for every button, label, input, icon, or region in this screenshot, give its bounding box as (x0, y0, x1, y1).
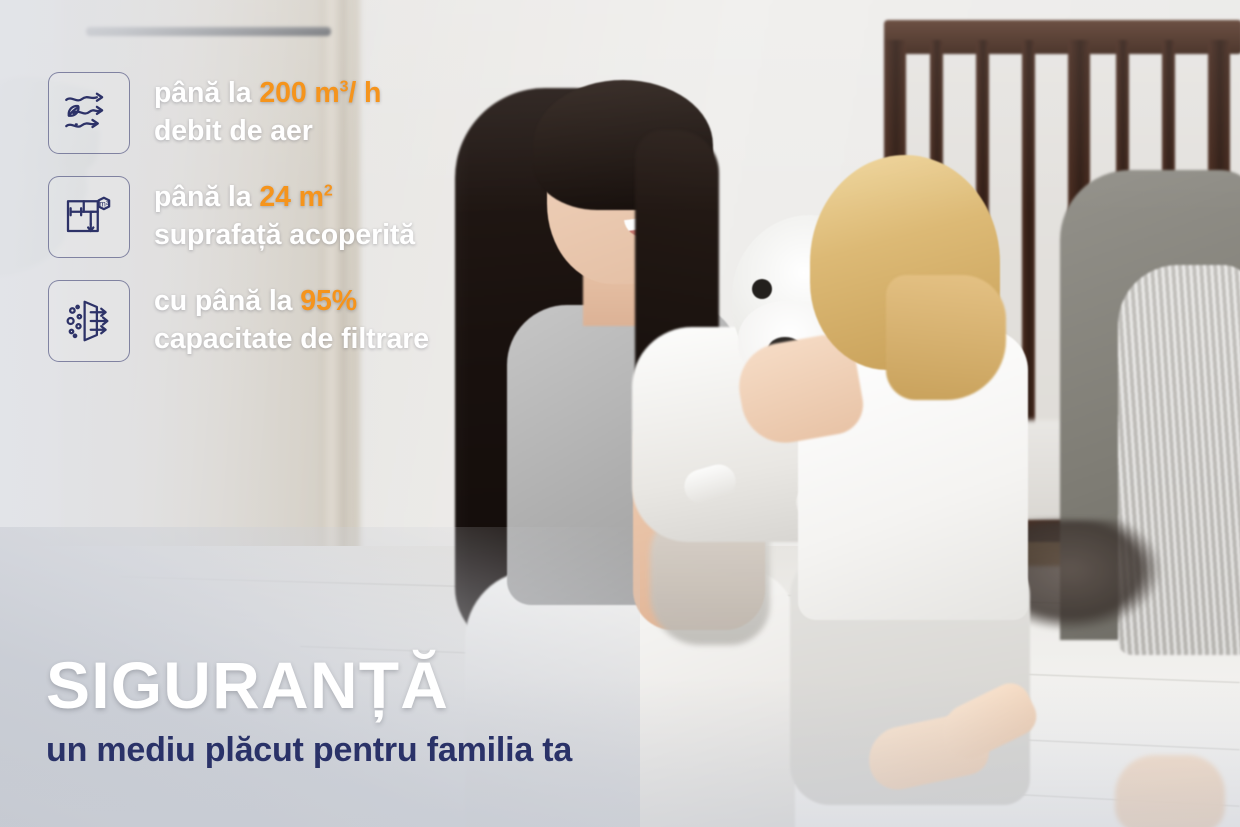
headline-subtitle: un mediu plăcut pentru familia ta (46, 732, 806, 769)
feature-unit-suffix: / h (348, 77, 381, 109)
headline-block: SIGURANȚĂ un mediu plăcut pentru familia… (46, 652, 806, 769)
feature-icon-box (48, 72, 130, 154)
feature-caption: suprafață acoperită (154, 217, 415, 255)
child-hand (1115, 755, 1225, 827)
feature-value: 24 m (259, 181, 324, 213)
filter-particles-icon (61, 293, 117, 349)
feature-caption: debit de aer (154, 113, 381, 151)
promo-banner: până la 200 m3/ h debit de aer m² (0, 0, 1240, 827)
door-handle (86, 27, 331, 36)
feature-item-filtration: cu până la 95% capacitate de filtrare (48, 280, 568, 362)
feature-text: până la 24 m2 suprafață acoperită (154, 176, 415, 254)
feature-prefix: cu până la (154, 285, 300, 317)
feature-item-area: m² până la 24 m2 suprafață acoperită (48, 176, 568, 258)
feature-caption: capacitate de filtrare (154, 321, 429, 359)
svg-text:m²: m² (99, 200, 109, 209)
feature-icon-box: m² (48, 176, 130, 258)
feature-prefix: până la (154, 181, 259, 213)
airflow-leaf-icon (61, 85, 117, 141)
floor-plan-area-icon: m² (61, 189, 117, 245)
feature-icon-box (48, 280, 130, 362)
feature-prefix: până la (154, 77, 259, 109)
feature-exponent: 2 (324, 183, 333, 200)
feature-text: până la 200 m3/ h debit de aer (154, 72, 381, 150)
feature-value: 200 m (259, 77, 339, 109)
feature-list: până la 200 m3/ h debit de aer m² (48, 72, 568, 362)
child-figure (790, 155, 1080, 827)
feature-text: cu până la 95% capacitate de filtrare (154, 280, 429, 358)
feature-value: 95% (300, 285, 357, 317)
headline-title: SIGURANȚĂ (46, 652, 806, 718)
feature-item-airflow: până la 200 m3/ h debit de aer (48, 72, 568, 154)
